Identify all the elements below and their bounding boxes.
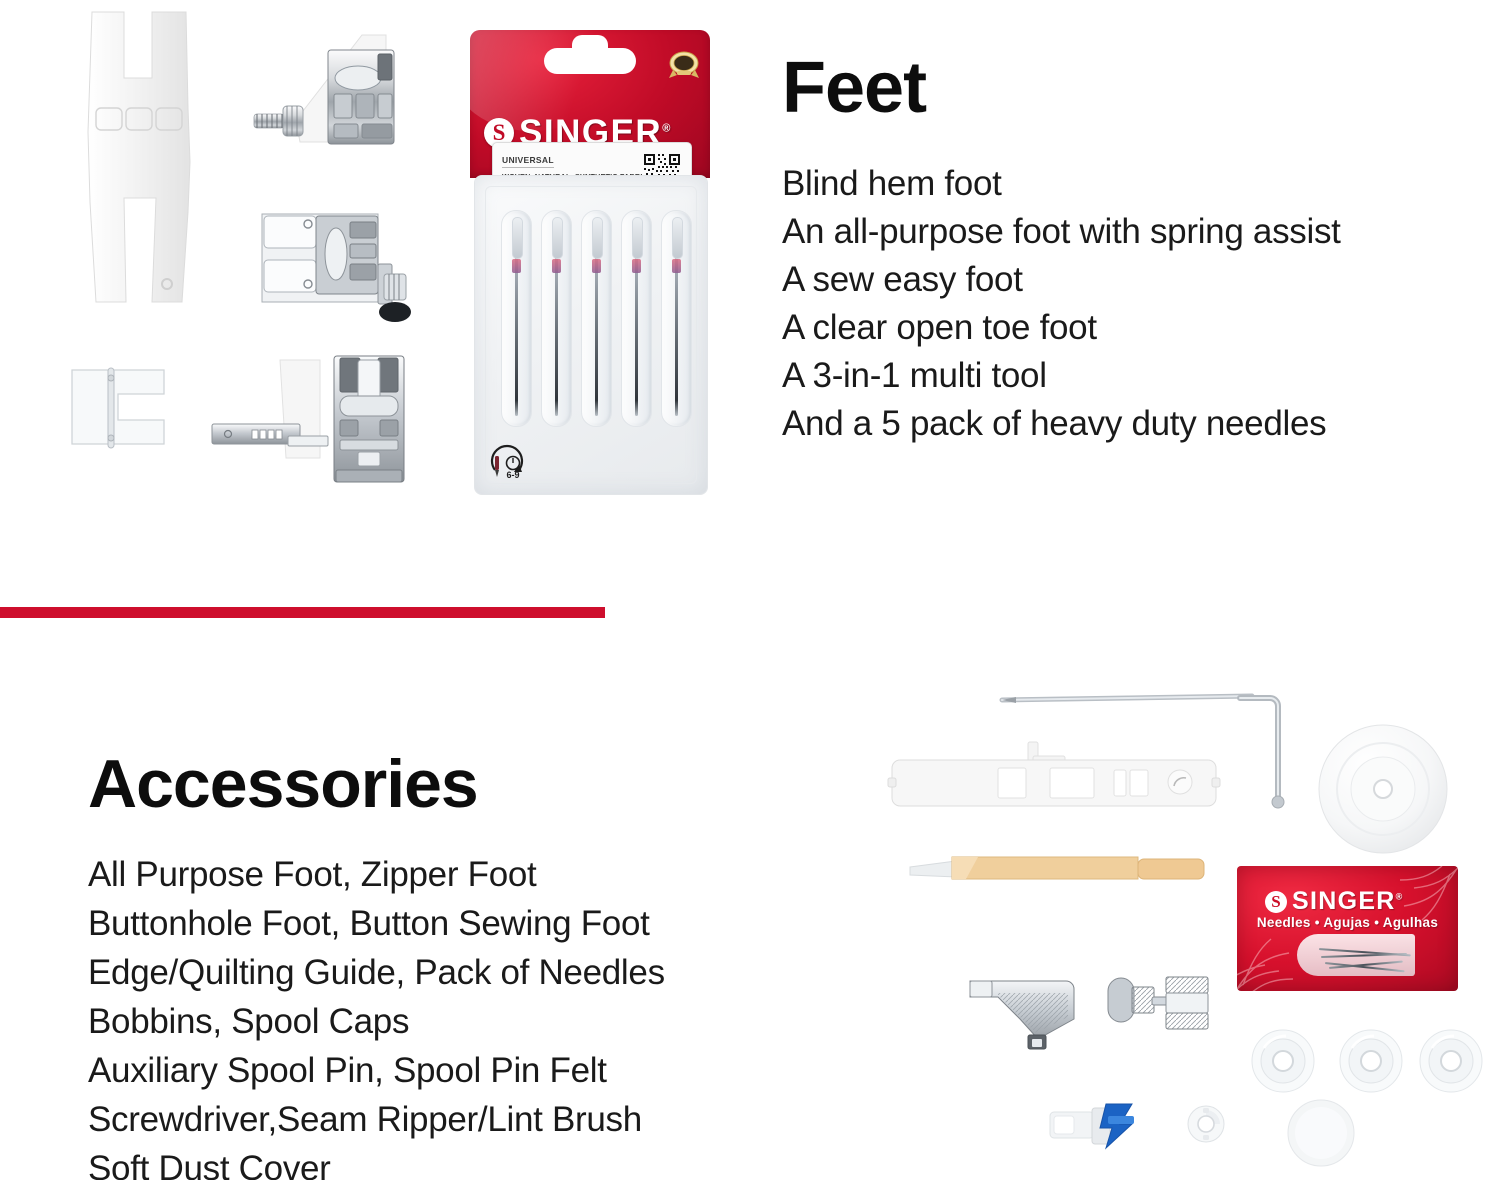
bobbin <box>1338 1028 1404 1094</box>
spool-pin-felt <box>1286 1098 1356 1168</box>
singer-needles-packet: S SINGER® Needles • Agujas • Agulhas <box>1237 866 1458 991</box>
feet-list-item: Blind hem foot <box>782 160 1497 208</box>
buttonhole-foot <box>888 742 1220 808</box>
feet-list-item: A clear open toe foot <box>782 304 1497 352</box>
product-infographic: S SINGER® UNIVERSAL WOVEN, NATURAL, SYNT… <box>0 0 1500 1180</box>
needle-cavity <box>501 210 532 427</box>
needle-shank <box>512 217 523 259</box>
hang-hole <box>544 48 636 74</box>
rotate-icon-label: 6-9 <box>506 470 519 480</box>
singer-logo-s: S <box>1265 891 1287 913</box>
clear-open-toe-foot <box>68 358 208 468</box>
needle-cavity <box>661 210 692 427</box>
bobbin <box>1418 1028 1484 1094</box>
feet-feature-list: Blind hem foot An all-purpose foot with … <box>782 160 1497 448</box>
needle-size-rotate-icon: 6-9 <box>489 444 533 484</box>
sew-easy-foot <box>78 12 208 302</box>
section-divider-rule <box>0 607 605 618</box>
accessories-text-block: Accessories All Purpose Foot, Zipper Foo… <box>88 750 878 1180</box>
spring-assist-foot <box>250 32 430 182</box>
needle-color-band <box>512 259 521 273</box>
singer-needle-package: S SINGER® UNIVERSAL WOVEN, NATURAL, SYNT… <box>470 30 710 495</box>
needle-color-band <box>632 259 641 273</box>
feet-list-item: A sew easy foot <box>782 256 1497 304</box>
needle-color-band <box>552 259 561 273</box>
accessories-list-item: Bobbins, Spool Caps <box>88 997 878 1046</box>
feet-heading: Feet <box>782 52 1497 124</box>
needle-shank <box>632 217 643 259</box>
needle-color-band <box>592 259 601 273</box>
accessories-list-item: Auxiliary Spool Pin, Spool Pin Felt <box>88 1046 878 1095</box>
screwdriver-rod <box>1000 688 1265 712</box>
accessories-list-item: Buttonhole Foot, Button Sewing Foot <box>88 899 878 948</box>
needles-packet-subtitle: Needles • Agujas • Agulhas <box>1237 915 1458 930</box>
feet-list-item: And a 5 pack of heavy duty needles <box>782 400 1497 448</box>
needle-color-band <box>672 259 681 273</box>
blind-hem-foot <box>258 202 448 332</box>
needle-type-label: UNIVERSAL <box>502 155 554 168</box>
needle-cavity <box>621 210 652 427</box>
small-spool-cap <box>1186 1104 1226 1144</box>
accessories-heading: Accessories <box>88 750 878 818</box>
needle-shank <box>672 217 683 259</box>
heritage-badge-icon <box>667 50 701 80</box>
blue-seam-ripper <box>1048 1098 1158 1158</box>
auxiliary-spool-pin <box>1240 690 1298 820</box>
needle-shank <box>552 217 563 259</box>
accessories-list-item: Screwdriver,Seam Ripper/Lint Brush <box>88 1095 878 1144</box>
feet-list-item: A 3-in-1 multi tool <box>782 352 1497 400</box>
accessories-list-item: All Purpose Foot, Zipper Foot <box>88 850 878 899</box>
accessories-list-item: Edge/Quilting Guide, Pack of Needles <box>88 948 878 997</box>
needle-shank <box>592 217 603 259</box>
accessories-list: All Purpose Foot, Zipper Foot Buttonhole… <box>88 850 878 1180</box>
singer-packet-logo: S SINGER® <box>1265 887 1404 916</box>
needle-blister-tray: 6-9 <box>474 175 708 495</box>
feet-list-item: An all-purpose foot with spring assist <box>782 208 1497 256</box>
seam-ripper-lint-brush <box>908 845 1208 887</box>
needle-cavity <box>581 210 612 427</box>
bobbin <box>1250 1028 1316 1094</box>
zipper-foot <box>1106 975 1211 1033</box>
registered-mark: ® <box>662 122 672 134</box>
singer-logo-wordmark: SINGER® <box>1292 887 1404 916</box>
needle-cavity <box>541 210 572 427</box>
registered-mark: ® <box>1396 892 1404 902</box>
large-spool-cap <box>1316 722 1450 856</box>
feet-text-block: Feet Blind hem foot An all-purpose foot … <box>782 52 1497 448</box>
edge-quilting-guide-foot <box>208 350 438 500</box>
button-sewing-foot <box>968 975 1088 1055</box>
accessories-list-item: Soft Dust Cover <box>88 1144 878 1180</box>
